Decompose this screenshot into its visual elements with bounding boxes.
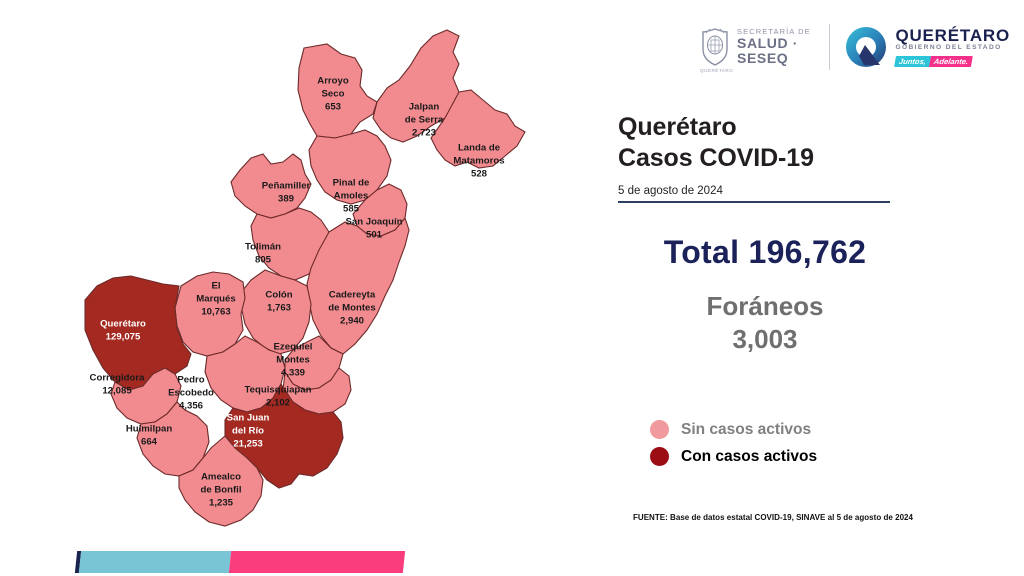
svg-text:Montes: Montes (276, 355, 310, 366)
svg-text:1,763: 1,763 (267, 303, 291, 314)
page-title-line2: Casos COVID-19 (618, 143, 918, 174)
svg-text:Marqués: Marqués (196, 294, 235, 305)
svg-text:Seco: Seco (322, 89, 345, 100)
page-title: Querétaro Casos COVID-19 (618, 112, 918, 173)
svg-text:Ezequiel: Ezequiel (274, 342, 313, 353)
legend-item-sin-casos-activos: Sin casos activos (650, 420, 817, 439)
legend-label-con-casos: Con casos activos (681, 448, 817, 466)
svg-text:2,723: 2,723 (412, 128, 436, 139)
juntos-adelante-tag: Juntos, Adelante. (895, 56, 974, 67)
queretaro-wordmark: QUERÉTARO GOBIERNO DEL ESTADO Juntos, Ad… (895, 27, 1010, 68)
seseq-logo: QUERÉTARO SECRETARÍA DE SALUD · SESEQ (700, 27, 815, 67)
svg-text:San Juan: San Juan (227, 413, 270, 424)
legend-swatch-no-active-icon (650, 420, 669, 439)
total-cases: Total 196,762 (618, 234, 918, 271)
svg-text:El: El (211, 281, 220, 292)
svg-text:de Serra: de Serra (405, 115, 444, 126)
svg-text:Tequisquiapan: Tequisquiapan (245, 385, 312, 396)
svg-text:4,356: 4,356 (179, 401, 203, 412)
svg-text:Pedro: Pedro (177, 375, 204, 386)
foraneos-label: Foráneos (618, 291, 918, 322)
svg-text:21,253: 21,253 (233, 439, 262, 450)
svg-text:del Río: del Río (232, 426, 264, 437)
svg-text:Matamoros: Matamoros (453, 156, 504, 167)
svg-text:2,940: 2,940 (340, 316, 364, 327)
svg-text:Corregidora: Corregidora (90, 373, 146, 384)
svg-text:528: 528 (471, 169, 488, 180)
queretaro-q-mark-icon (844, 25, 888, 69)
source-note: FUENTE: Base de datos estatal COVID-19, … (633, 513, 913, 522)
queretaro-logo: QUERÉTARO GOBIERNO DEL ESTADO Juntos, Ad… (844, 25, 1010, 69)
queretaro-name: QUERÉTARO (895, 27, 1010, 44)
legend-item-con-casos-activos: Con casos activos (650, 447, 817, 466)
svg-text:1,235: 1,235 (209, 498, 234, 509)
svg-text:Landa de: Landa de (458, 143, 500, 154)
page-title-line1: Querétaro (618, 112, 918, 143)
legend-label-sin-casos: Sin casos activos (681, 421, 811, 439)
svg-text:12,085: 12,085 (102, 386, 132, 397)
svg-text:129,075: 129,075 (106, 332, 141, 343)
svg-text:Jalpan: Jalpan (409, 102, 440, 113)
svg-text:653: 653 (325, 102, 341, 113)
svg-text:10,763: 10,763 (201, 307, 230, 318)
legend-swatch-with-active-icon (650, 447, 669, 466)
svg-text:Arroyo: Arroyo (317, 76, 349, 87)
queretaro-choropleth-map: Arroyo Seco 653 Jalpan de Serra 2,723 La… (55, 18, 565, 538)
svg-text:Escobedo: Escobedo (168, 388, 214, 399)
svg-text:Colón: Colón (265, 290, 292, 301)
svg-text:805: 805 (255, 255, 272, 266)
svg-text:4,339: 4,339 (281, 368, 305, 379)
svg-text:Huimilpan: Huimilpan (126, 424, 173, 435)
tag-adelante: Adelante. (930, 56, 974, 67)
title-divider (618, 201, 890, 203)
svg-text:Peñamiller: Peñamiller (262, 181, 311, 192)
svg-text:389: 389 (278, 194, 294, 205)
seseq-line2: SALUD · SESEQ (737, 36, 815, 65)
seseq-wordmark: SECRETARÍA DE SALUD · SESEQ (737, 28, 815, 65)
svg-text:Querétaro: Querétaro (100, 319, 146, 330)
logo-divider (829, 24, 830, 70)
map-label-landa-de-matamoros: Landa de Matamoros 528 (453, 143, 504, 180)
svg-text:Tolimán: Tolimán (245, 242, 281, 253)
svg-text:Cadereyta: Cadereyta (329, 290, 376, 301)
logo-bar: QUERÉTARO SECRETARÍA DE SALUD · SESEQ (700, 18, 1010, 76)
svg-text:Amealco: Amealco (201, 472, 241, 483)
foraneos-value: 3,003 (618, 324, 918, 355)
svg-text:Amoles: Amoles (334, 191, 369, 202)
shield-crest-icon: QUERÉTARO (700, 27, 730, 67)
map-legend: Sin casos activos Con casos activos (650, 420, 817, 474)
svg-text:585: 585 (343, 204, 360, 215)
queretaro-subtitle: GOBIERNO DEL ESTADO (895, 45, 1010, 52)
svg-text:501: 501 (366, 230, 383, 241)
svg-text:Pinal de: Pinal de (333, 178, 370, 189)
bottom-bar-teal-segment (79, 551, 231, 573)
summary-panel: Querétaro Casos COVID-19 5 de agosto de … (618, 112, 918, 355)
tag-juntos: Juntos, (895, 56, 932, 67)
seseq-shield-sublabel: QUERÉTARO (700, 68, 730, 73)
svg-text:2,102: 2,102 (266, 398, 290, 409)
decorative-bottom-bar (75, 551, 405, 573)
svg-text:de Bonfil: de Bonfil (200, 485, 241, 496)
report-date: 5 de agosto de 2024 (618, 185, 918, 201)
svg-text:San Joaquín: San Joaquín (345, 217, 402, 228)
bottom-bar-pink-segment (229, 551, 405, 573)
svg-text:de Montes: de Montes (328, 303, 375, 314)
svg-text:664: 664 (141, 437, 158, 448)
